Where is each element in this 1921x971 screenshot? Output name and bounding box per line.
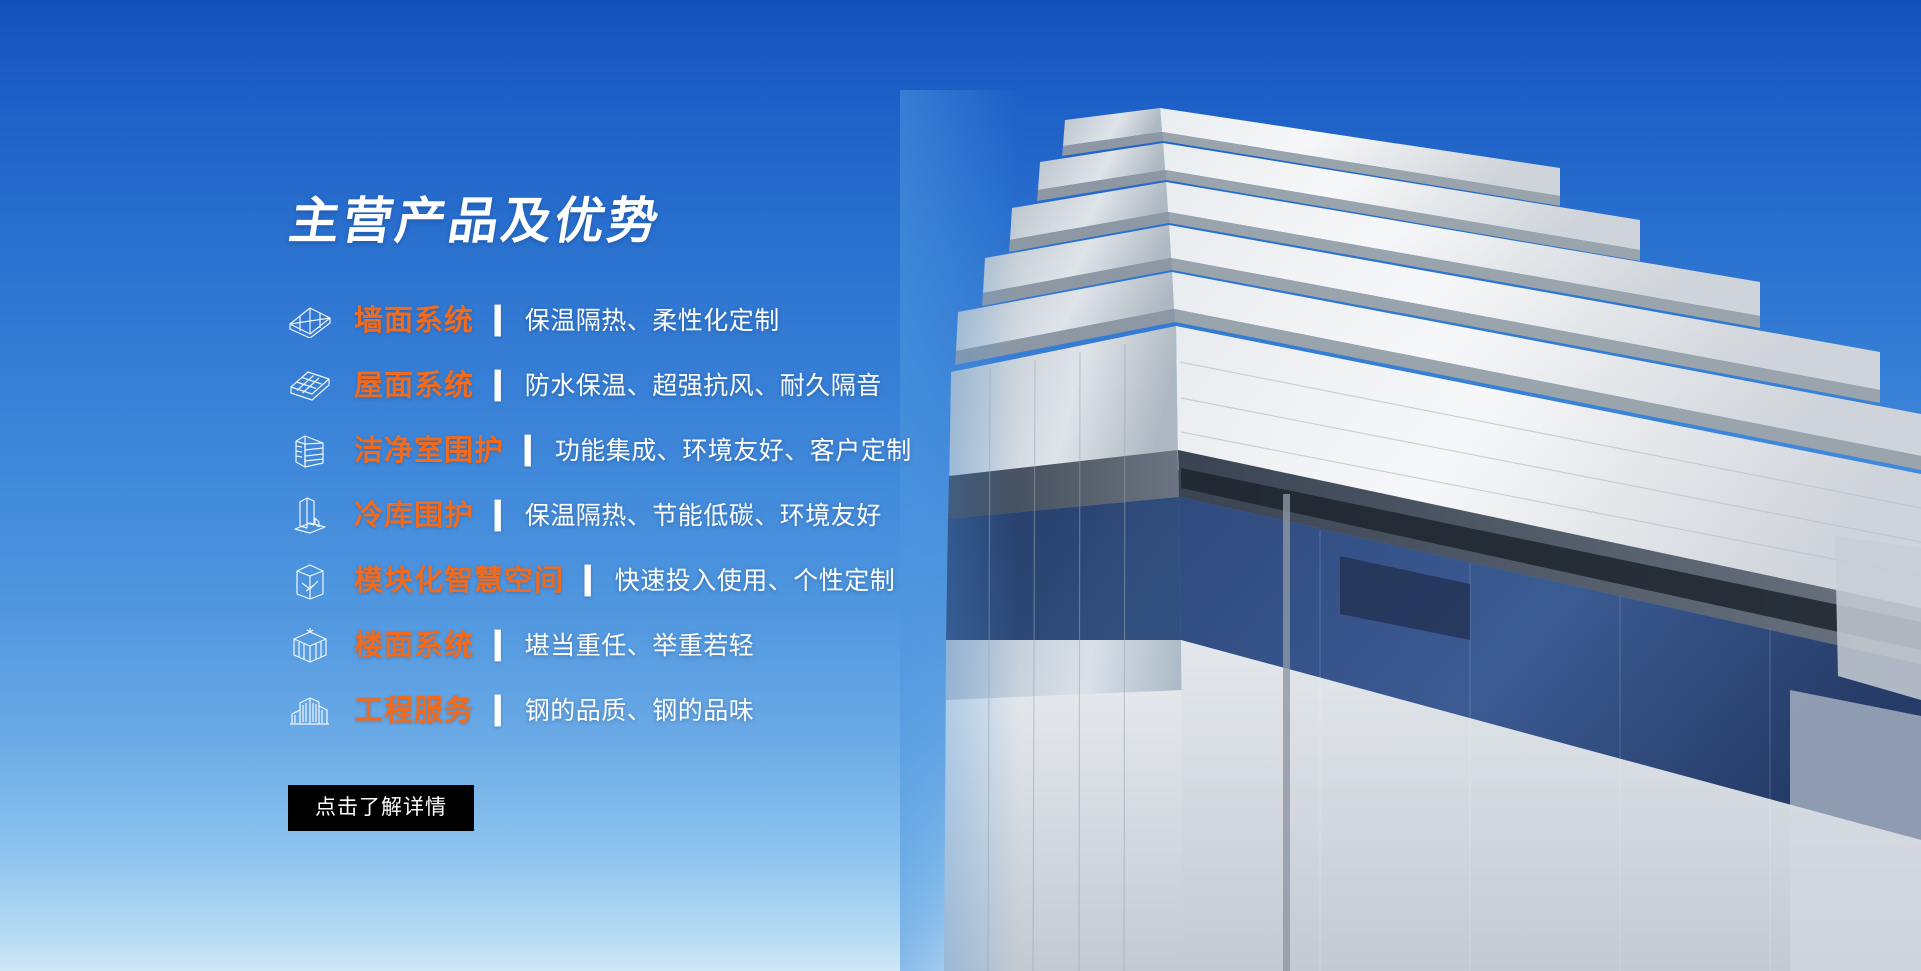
product-title: 楼面系统: [354, 631, 474, 660]
product-description: 堪当重任、举重若轻: [525, 633, 755, 658]
product-title: 屋面系统: [354, 371, 474, 400]
separator-bar: ▌: [494, 632, 507, 658]
list-item[interactable]: 楼面系统 ▌ 堪当重任、举重若轻: [286, 613, 1186, 678]
separator-bar: ▌: [524, 437, 537, 463]
separator-bar: ▌: [584, 567, 597, 593]
product-description: 防水保温、超强抗风、耐久隔音: [525, 373, 882, 398]
separator-bar: ▌: [494, 697, 507, 723]
banner-content: 主营产品及优势 墙面系统 ▌ 保温隔热、柔性化定制: [286, 196, 1186, 831]
product-title: 模块化智慧空间: [354, 566, 564, 595]
roof-panel-icon: [286, 364, 334, 408]
product-description: 快速投入使用、个性定制: [615, 568, 896, 593]
separator-bar: ▌: [494, 502, 507, 528]
list-item[interactable]: 墙面系统 ▌ 保温隔热、柔性化定制: [286, 288, 1186, 353]
cold-storage-icon: [286, 494, 334, 538]
list-item[interactable]: 冷库围护 ▌ 保温隔热、节能低碳、环境友好: [286, 483, 1186, 548]
product-list: 墙面系统 ▌ 保温隔热、柔性化定制 屋面系统 ▌: [286, 288, 1186, 743]
separator-bar: ▌: [494, 372, 507, 398]
product-description: 功能集成、环境友好、客户定制: [555, 438, 912, 463]
cleanroom-building-icon: [286, 429, 334, 473]
list-item[interactable]: 洁净室围护 ▌ 功能集成、环境友好、客户定制: [286, 418, 1186, 483]
list-item[interactable]: 模块化智慧空间 ▌ 快速投入使用、个性定制: [286, 548, 1186, 613]
list-item[interactable]: 工程服务 ▌ 钢的品质、钢的品味: [286, 678, 1186, 743]
product-description: 保温隔热、节能低碳、环境友好: [525, 503, 882, 528]
floor-deck-icon: [286, 624, 334, 668]
learn-more-button[interactable]: 点击了解详情: [288, 785, 474, 831]
engineering-service-icon: [286, 689, 334, 733]
product-description: 保温隔热、柔性化定制: [525, 308, 780, 333]
product-description: 钢的品质、钢的品味: [525, 698, 755, 723]
product-title: 冷库围护: [354, 501, 474, 530]
list-item[interactable]: 屋面系统 ▌ 防水保温、超强抗风、耐久隔音: [286, 353, 1186, 418]
product-advantage-banner: 主营产品及优势 墙面系统 ▌ 保温隔热、柔性化定制: [0, 0, 1921, 971]
separator-bar: ▌: [494, 307, 507, 333]
product-title: 墙面系统: [354, 306, 474, 335]
wall-panel-icon: [286, 299, 334, 343]
product-title: 洁净室围护: [354, 436, 504, 465]
modular-cube-icon: [286, 559, 334, 603]
product-title: 工程服务: [354, 696, 474, 725]
page-title: 主营产品及优势: [286, 196, 1194, 246]
